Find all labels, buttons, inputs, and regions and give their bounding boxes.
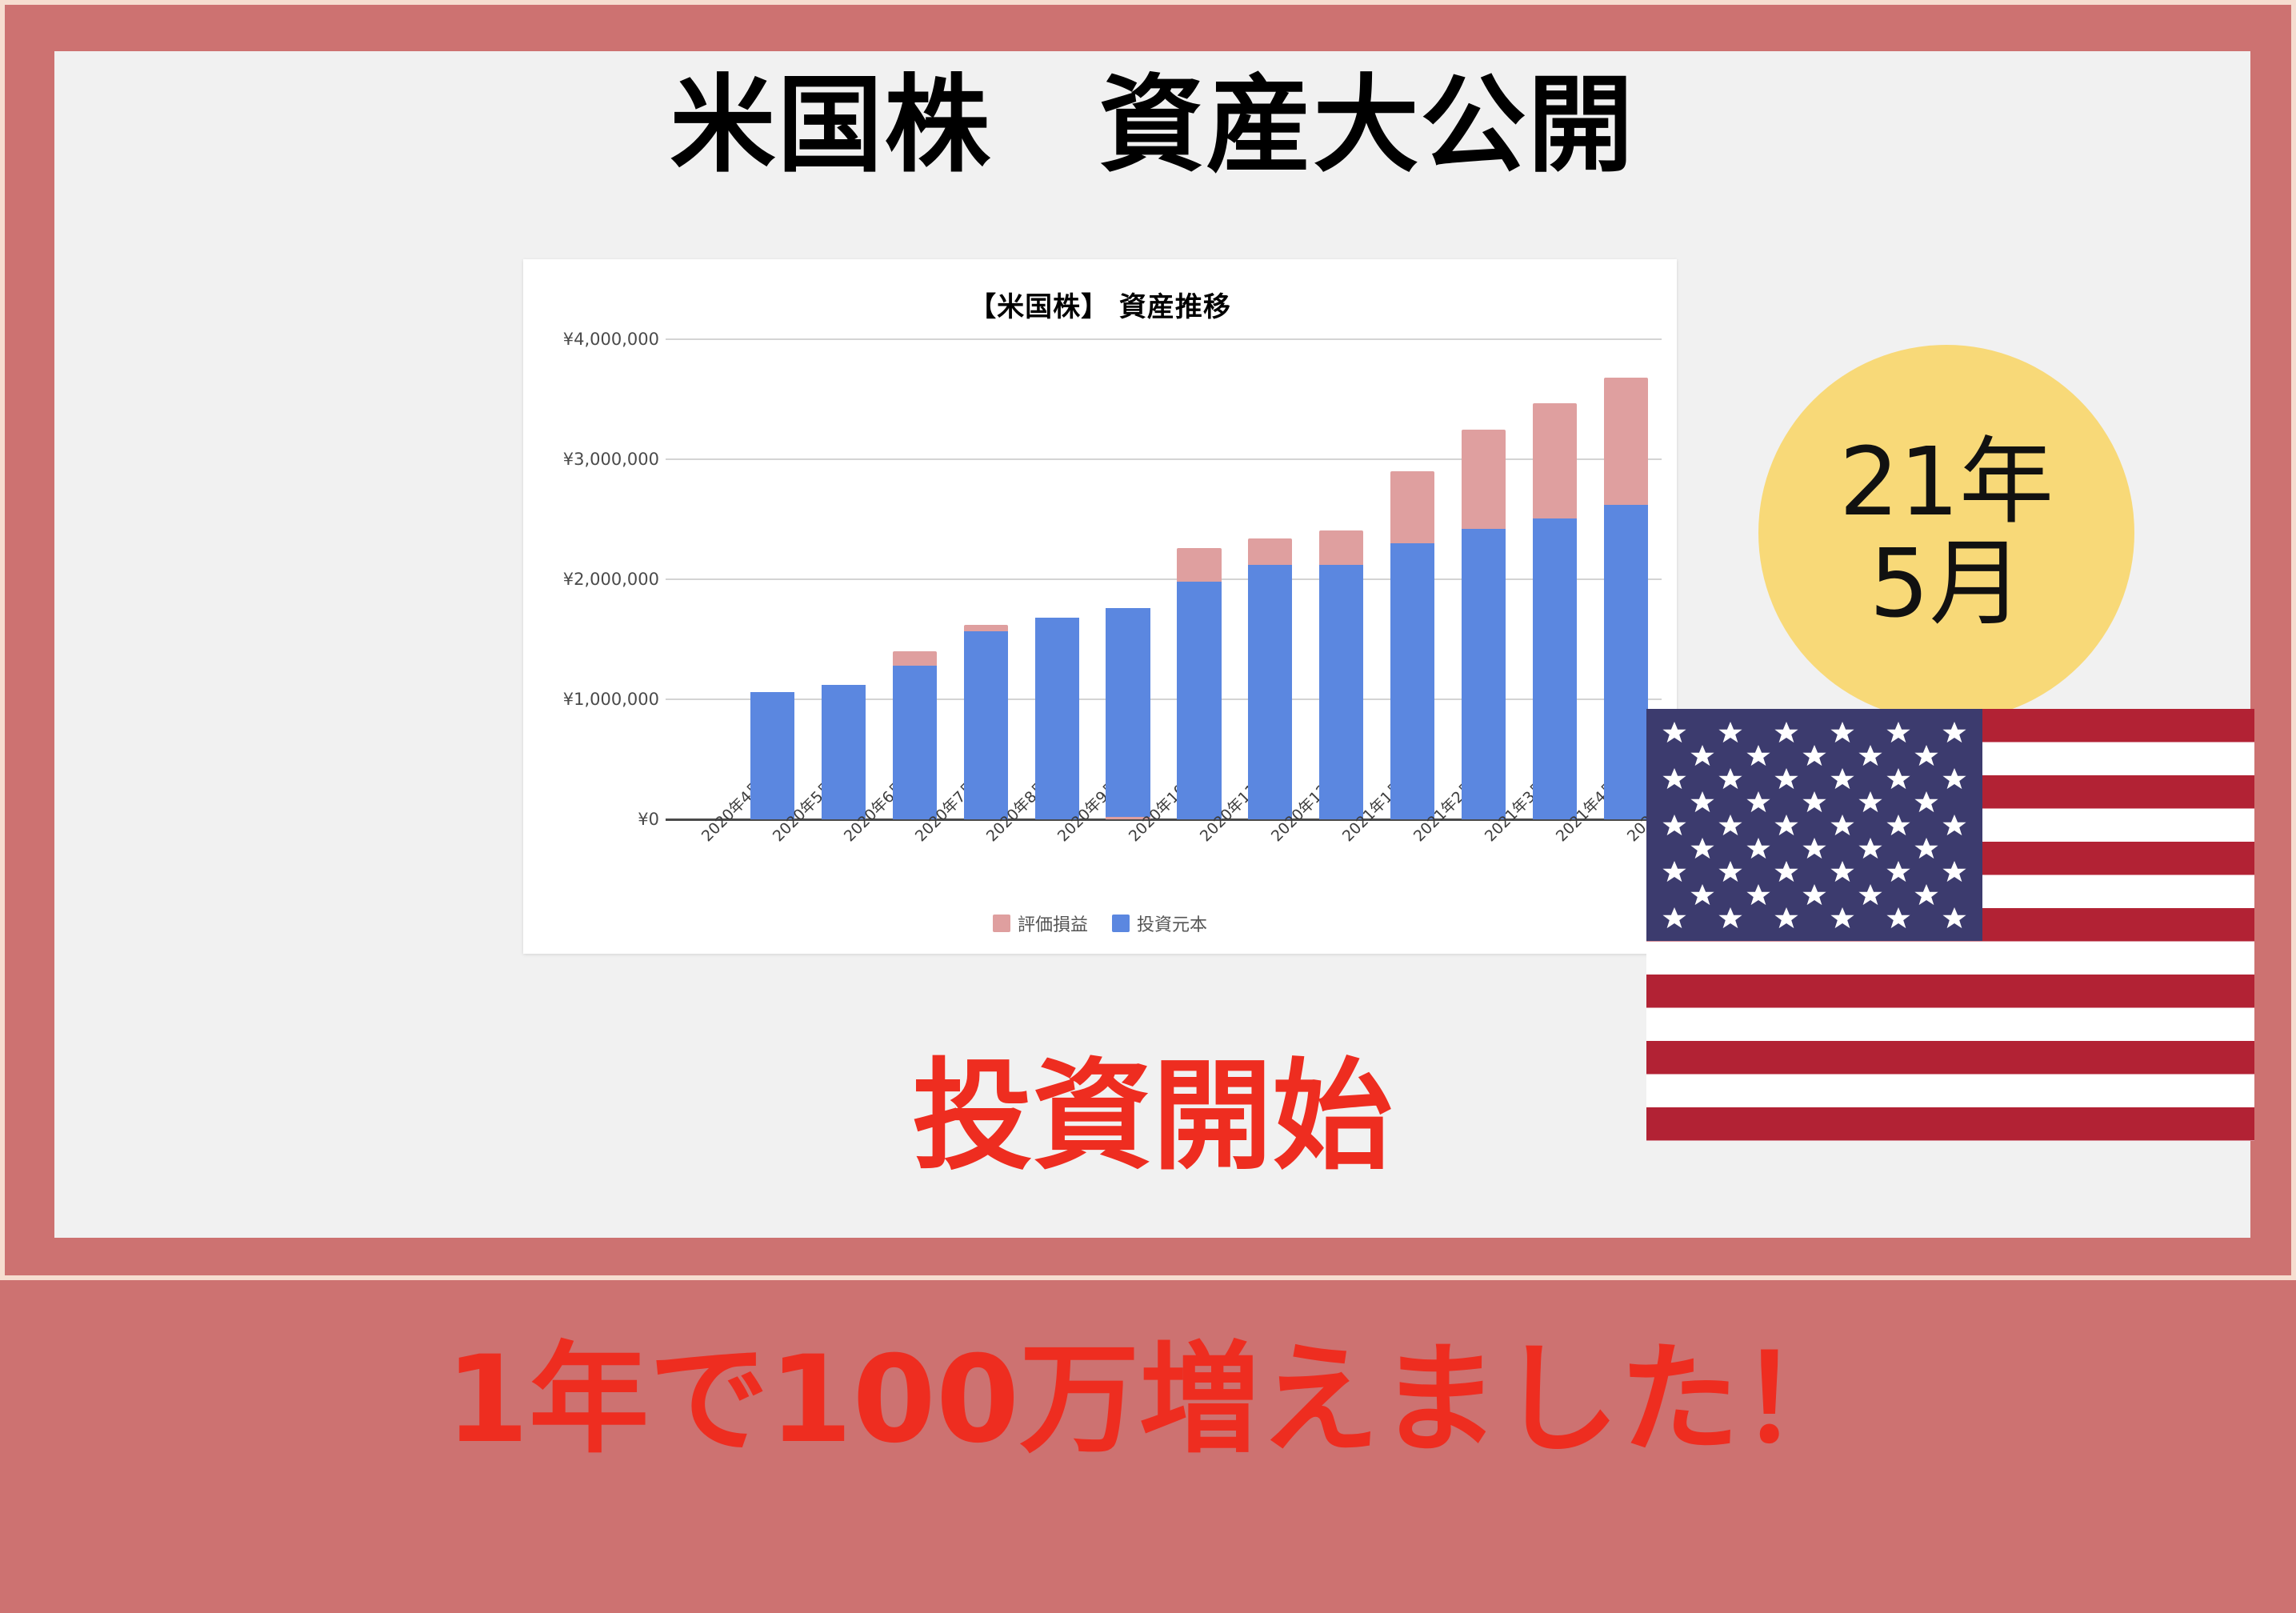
thumbnail-frame: 米国株 資産大公開 【米国株】 資産推移 ¥0¥1,000,000¥2,000,…	[0, 0, 2296, 1280]
chart-bar-segment-principal	[1035, 618, 1079, 819]
chart-y-tick-label: ¥3,000,000	[563, 450, 659, 469]
chart-bar-segment-gain	[1462, 430, 1506, 530]
chart-bar-segment-principal	[822, 685, 866, 819]
legend-swatch-principal	[1112, 915, 1130, 932]
chart-bar-segment-gain	[1248, 538, 1292, 565]
chart-bar-segment-gain	[893, 651, 937, 666]
chart-bar-segment-gain	[1533, 403, 1577, 518]
chart-y-tick-label: ¥2,000,000	[563, 570, 659, 589]
chart-bar-segment-principal	[964, 631, 1008, 820]
date-badge: 21年 5月	[1758, 345, 2134, 721]
legend-item-principal: 投資元本	[1112, 911, 1207, 936]
chart-bar-segment-gain	[964, 625, 1008, 631]
chart-bar	[1390, 471, 1434, 819]
chart-bar-segment-gain	[1390, 471, 1434, 543]
chart-bar	[1462, 430, 1506, 820]
chart-bar-segment-principal	[1533, 518, 1577, 820]
legend-label-gain: 評価損益	[1018, 911, 1088, 936]
chart-bar-segment-principal	[1177, 582, 1221, 819]
chart-bar-segment-principal	[1248, 565, 1292, 819]
chart-y-tick-label: ¥1,000,000	[563, 690, 659, 709]
chart-title: 【米国株】 資産推移	[523, 285, 1677, 324]
badge-year: 21年	[1839, 431, 2054, 533]
chart-bar-segment-principal	[1462, 529, 1506, 819]
chart-bar-segment-principal	[1319, 565, 1363, 819]
chart-gridline	[666, 578, 1662, 580]
chart-plot-area: ¥0¥1,000,000¥2,000,000¥3,000,000¥4,000,0…	[666, 339, 1662, 819]
chart-bar-segment-principal	[1390, 543, 1434, 819]
chart-bar	[1177, 548, 1221, 819]
chart-legend: 評価損益 投資元本	[523, 911, 1677, 936]
page-title: 米国株 資産大公開	[54, 70, 2250, 182]
chart-bar	[1319, 530, 1363, 820]
chart-bar	[1604, 378, 1648, 819]
chart-bar-segment-principal	[893, 666, 937, 819]
chart-bar	[1533, 403, 1577, 820]
chart-gridline	[666, 698, 1662, 700]
legend-label-principal: 投資元本	[1137, 911, 1207, 936]
badge-month: 5月	[1869, 533, 2023, 634]
caption-line-2: 1年で100万増えました！	[54, 1330, 2250, 1471]
chart-bar	[822, 685, 866, 819]
us-flag-icon	[1646, 709, 2254, 1141]
chart-bar	[1035, 618, 1079, 819]
chart-bar-segment-principal	[1604, 505, 1648, 819]
chart-bar	[964, 625, 1008, 819]
chart-y-tick-label: ¥0	[638, 810, 659, 829]
legend-item-gain: 評価損益	[993, 911, 1088, 936]
chart-bar-segment-gain	[1177, 548, 1221, 582]
chart-card: 【米国株】 資産推移 ¥0¥1,000,000¥2,000,000¥3,000,…	[523, 259, 1677, 954]
chart-bar-segment-gain	[1319, 530, 1363, 566]
chart-bar-segment-principal	[1106, 608, 1150, 819]
chart-gridline	[666, 338, 1662, 340]
chart-bar-segment-principal	[750, 692, 794, 819]
legend-swatch-gain	[993, 915, 1010, 932]
chart-bar-segment-gain	[1604, 378, 1648, 505]
chart-bar	[750, 692, 794, 819]
chart-bar	[1248, 538, 1292, 819]
chart-bar	[1106, 608, 1150, 819]
chart-y-tick-label: ¥4,000,000	[563, 330, 659, 349]
chart-bar	[893, 651, 937, 819]
chart-gridline	[666, 458, 1662, 460]
